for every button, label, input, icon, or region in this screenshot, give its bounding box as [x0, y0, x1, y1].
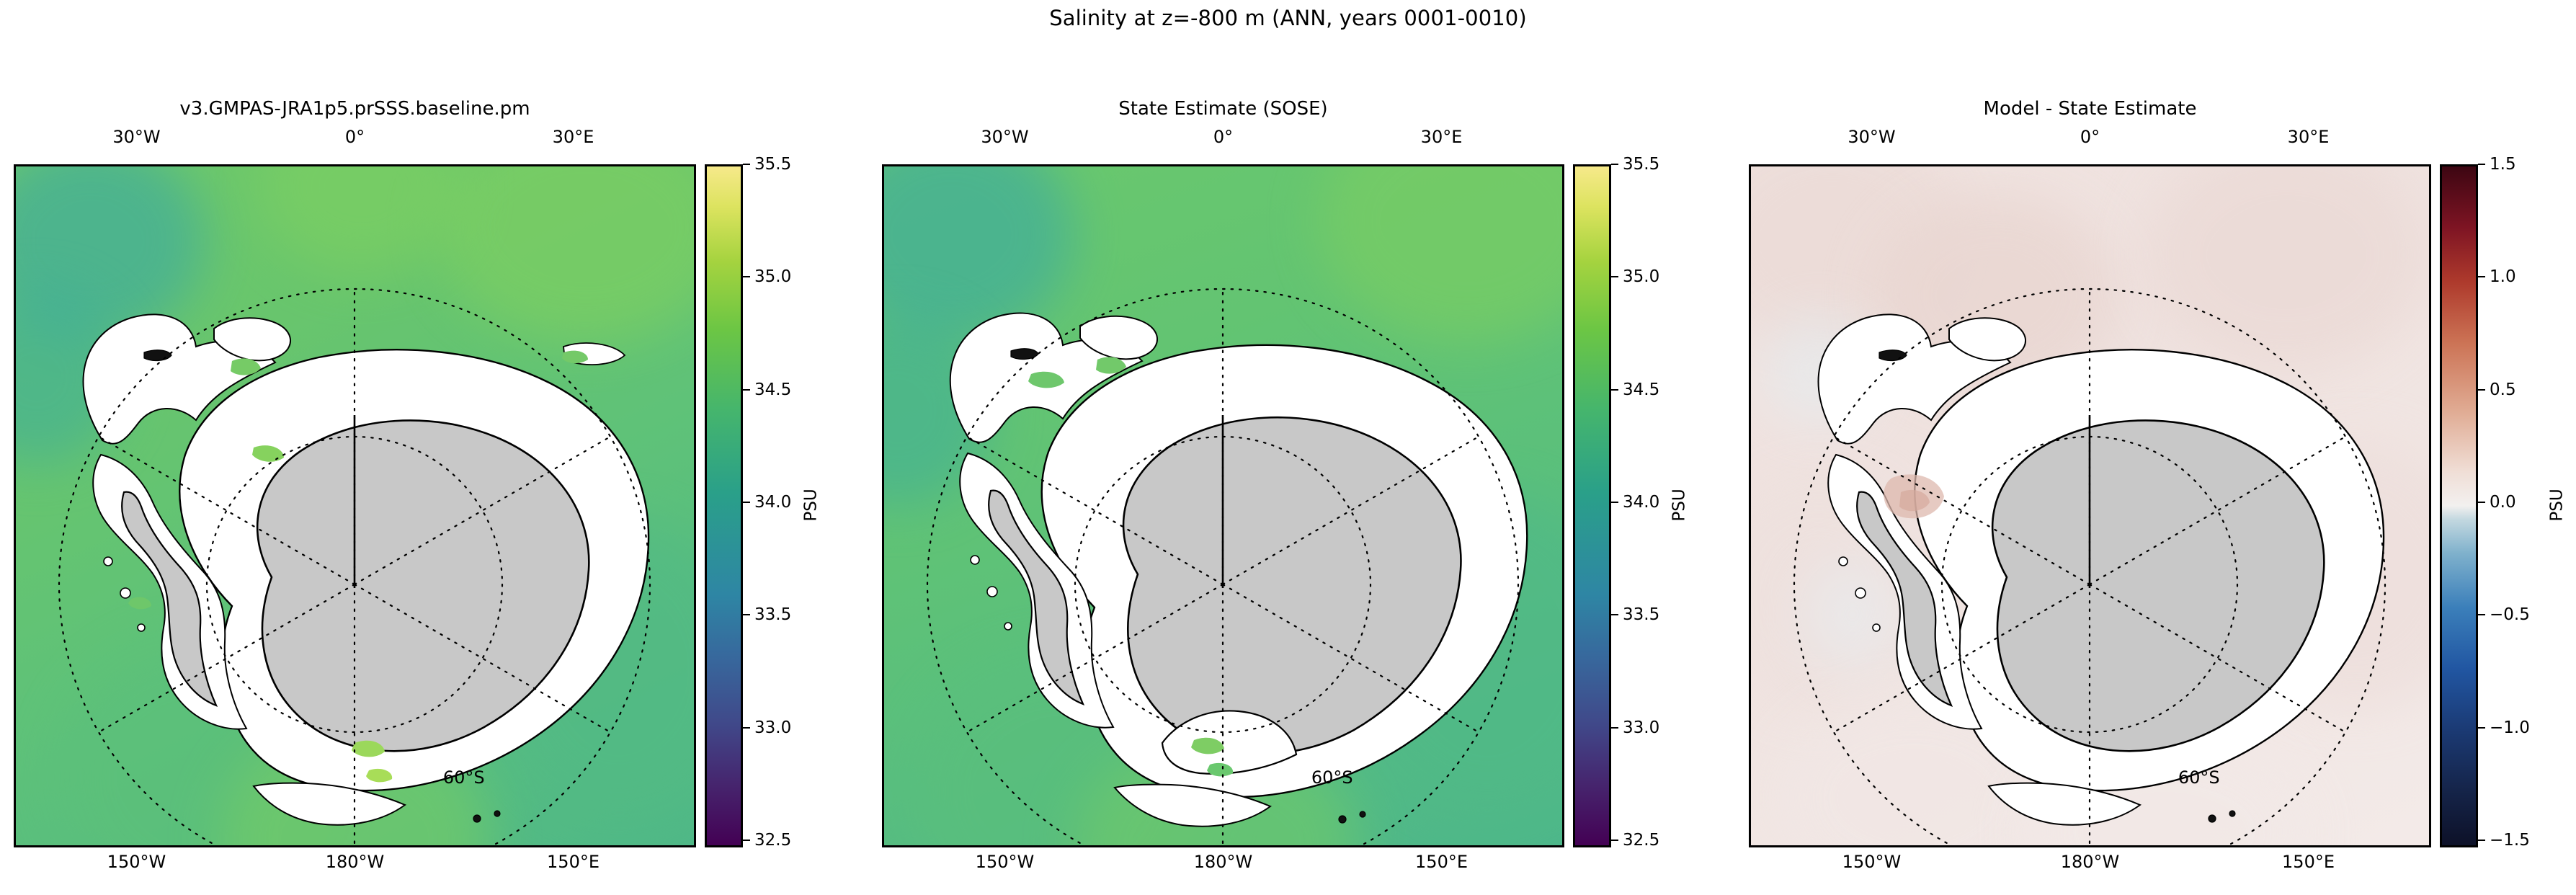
lon-label: 30°W [981, 127, 1028, 147]
lon-label: 150°E [547, 852, 600, 872]
lon-labels-bottom-obs: 150°W 180°W 150°E [882, 852, 1564, 876]
panel-title-obs: State Estimate (SOSE) [882, 98, 1564, 120]
colorbar-ticks-obs: 35.5 35.0 34.5 34.0 33.5 33.0 32.5 [1611, 164, 1712, 843]
lon-label: 0° [2080, 127, 2100, 147]
colorbar-tick-label: 33.0 [754, 718, 791, 737]
lon-label: 150°W [976, 852, 1035, 872]
lon-label: 0° [345, 127, 365, 147]
colorbar-tick-label: 33.0 [1623, 718, 1659, 737]
colorbar-tick-label: 1.5 [2490, 155, 2516, 174]
salinity-field-obs [884, 166, 1562, 845]
salinity-bias-field [1751, 166, 2429, 845]
lon-label: 0° [1213, 127, 1233, 147]
colorbar-tick-label: 0.0 [2490, 493, 2516, 512]
colorbar-tick-label: −1.0 [2490, 718, 2530, 737]
panel-title-model: v3.GMPAS-JRA1p5.prSSS.baseline.pm [14, 98, 696, 120]
colorbar-unit-label-model: PSU [802, 489, 821, 521]
colorbar-tick-label: 34.5 [1623, 380, 1659, 399]
map-axes-bias[interactable]: 60°S [1749, 164, 2431, 847]
colorbar-tick-label: 32.5 [1623, 831, 1659, 850]
lat-label-60s-obs: 60°S [1311, 767, 1353, 788]
colorbar-tick-label: 33.5 [1623, 605, 1659, 624]
colorbar-unit-label-obs: PSU [1670, 489, 1689, 521]
lon-label: 150°E [2282, 852, 2335, 872]
lon-labels-top-model: 30°W 0° 30°E [14, 127, 696, 148]
lon-labels-bottom-bias: 150°W 180°W 150°E [1749, 852, 2431, 876]
lat-label-60s-model: 60°S [443, 767, 485, 788]
colorbar-gradient-model [705, 164, 743, 847]
colorbar-tick-label: 35.5 [754, 155, 791, 174]
colorbar-tick-label: 35.0 [754, 267, 791, 286]
colorbar-tick-label: 34.0 [754, 493, 791, 512]
colorbar-tick-label: 32.5 [754, 831, 791, 850]
lon-label: 30°W [1848, 127, 1895, 147]
colorbar-ticks-model: 35.5 35.0 34.5 34.0 33.5 33.0 32.5 [743, 164, 844, 843]
colorbar-tick-label: 34.5 [754, 380, 791, 399]
colorbar-tick-label: 33.5 [754, 605, 791, 624]
colorbar-tick-label: 35.5 [1623, 155, 1659, 174]
colorbar-tick-label: 1.0 [2490, 267, 2516, 286]
colorbar-gradient-obs [1573, 164, 1611, 847]
figure-canvas: Salinity at z=-800 m (ANN, years 0001-00… [0, 0, 2576, 895]
lon-label: 30°E [1421, 127, 1463, 147]
map-axes-model[interactable]: 60°S [14, 164, 696, 847]
lon-label: 180°W [1194, 852, 1253, 872]
lon-label: 30°E [553, 127, 594, 147]
colorbar-gradient-bias [2440, 164, 2478, 847]
colorbar-tick-label: 0.5 [2490, 380, 2516, 399]
lon-label: 150°W [107, 852, 166, 872]
lon-label: 180°W [2061, 852, 2120, 872]
lon-labels-top-obs: 30°W 0° 30°E [882, 127, 1564, 148]
lon-labels-top-bias: 30°W 0° 30°E [1749, 127, 2431, 148]
lon-label: 150°W [1842, 852, 1902, 872]
lon-label: 150°E [1415, 852, 1468, 872]
salinity-field-model [16, 166, 694, 845]
map-axes-obs[interactable]: 60°S [882, 164, 1564, 847]
colorbar-tick-label: 34.0 [1623, 493, 1659, 512]
lon-label: 30°E [2288, 127, 2330, 147]
panel-title-bias: Model - State Estimate [1749, 98, 2431, 120]
colorbar-tick-label: 35.0 [1623, 267, 1659, 286]
lon-labels-bottom-model: 150°W 180°W 150°E [14, 852, 696, 876]
colorbar-unit-label-bias: PSU [2548, 489, 2567, 521]
colorbar-tick-label: −1.5 [2490, 831, 2530, 850]
colorbar-tick-label: −0.5 [2490, 605, 2530, 624]
lon-label: 30°W [112, 127, 160, 147]
lon-label: 180°W [326, 852, 385, 872]
lat-label-60s-bias: 60°S [2178, 767, 2220, 788]
